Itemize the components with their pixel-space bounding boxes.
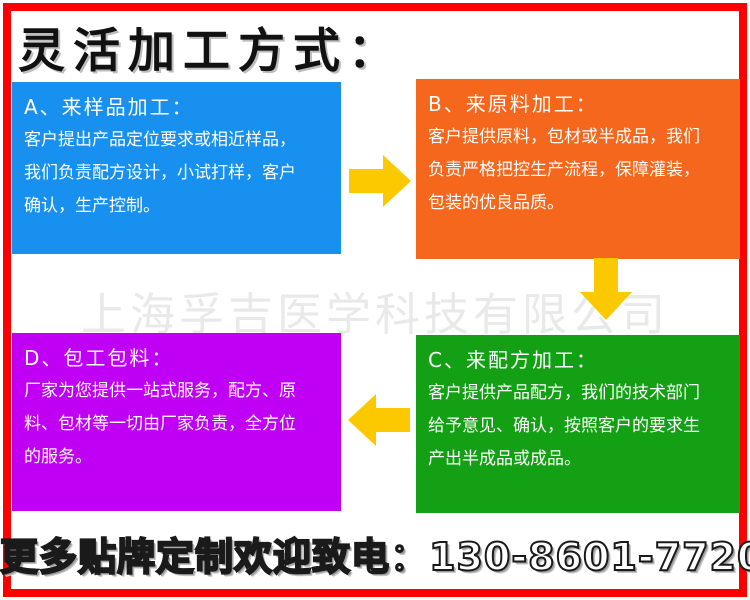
process-card-d-line-1: 厂家为您提供一站式服务，配方、原 — [24, 375, 329, 408]
process-card-a-line-1: 客户提出产品定位要求或相近样品， — [24, 124, 329, 157]
process-card-d-heading: D、包工包料： — [24, 342, 329, 375]
company-watermark: 上海孚吉医学科技有限公司 — [0, 279, 750, 341]
process-card-c-heading: C、来配方加工： — [428, 344, 728, 377]
process-card-c: C、来配方加工： 客户提供产品配方，我们的技术部门 给予意见、确认，按照客户的要… — [416, 335, 740, 513]
process-card-a: A、来样品加工： 客户提出产品定位要求或相近样品， 我们负责配方设计，小试打样，… — [12, 82, 341, 254]
footer-contact-line: 更多贴牌定制欢迎致电：130-8601-7720 — [0, 526, 750, 581]
process-card-d: D、包工包料： 厂家为您提供一站式服务，配方、原 料、包材等一切由厂家负责，全方… — [12, 333, 341, 511]
process-card-c-body: 客户提供产品配方，我们的技术部门 给予意见、确认，按照客户的要求生 产出半成品或… — [428, 377, 728, 476]
process-card-b-line-1: 客户提供原料，包材或半成品，我们 — [428, 121, 728, 154]
arrow-right-icon — [349, 153, 411, 209]
arrow-down-icon — [578, 258, 634, 320]
process-card-b-line-3: 包装的优良品质。 — [428, 187, 728, 220]
flowchart-poster: 上海孚吉医学科技有限公司 灵活加工方式： A、来样品加工： 客户提出产品定位要求… — [0, 0, 750, 600]
process-card-b-heading: B、来原料加工： — [428, 88, 728, 121]
process-card-d-body: 厂家为您提供一站式服务，配方、原 料、包材等一切由厂家负责，全方位 的服务。 — [24, 375, 329, 474]
process-card-c-line-3: 产出半成品或成品。 — [428, 443, 728, 476]
process-card-b-body: 客户提供原料，包材或半成品，我们 负责严格把控生产流程，保障灌装， 包装的优良品… — [428, 121, 728, 220]
process-card-d-line-2: 料、包材等一切由厂家负责，全方位 — [24, 408, 329, 441]
process-card-d-line-3: 的服务。 — [24, 441, 329, 474]
process-card-a-heading: A、来样品加工： — [24, 91, 329, 124]
footer-contact-text: 更多贴牌定制欢迎致电：130-8601-7720 — [0, 535, 750, 579]
process-card-c-line-2: 给予意见、确认，按照客户的要求生 — [428, 410, 728, 443]
process-card-a-body: 客户提出产品定位要求或相近样品， 我们负责配方设计，小试打样，客户 确认，生产控… — [24, 124, 329, 223]
page-title: 灵活加工方式： — [18, 12, 403, 81]
arrow-left-icon — [348, 392, 410, 448]
process-card-b: B、来原料加工： 客户提供原料，包材或半成品，我们 负责严格把控生产流程，保障灌… — [416, 79, 740, 259]
process-card-a-line-3: 确认，生产控制。 — [24, 190, 329, 223]
process-card-c-line-1: 客户提供产品配方，我们的技术部门 — [428, 377, 728, 410]
process-card-b-line-2: 负责严格把控生产流程，保障灌装， — [428, 154, 728, 187]
process-card-a-line-2: 我们负责配方设计，小试打样，客户 — [24, 157, 329, 190]
